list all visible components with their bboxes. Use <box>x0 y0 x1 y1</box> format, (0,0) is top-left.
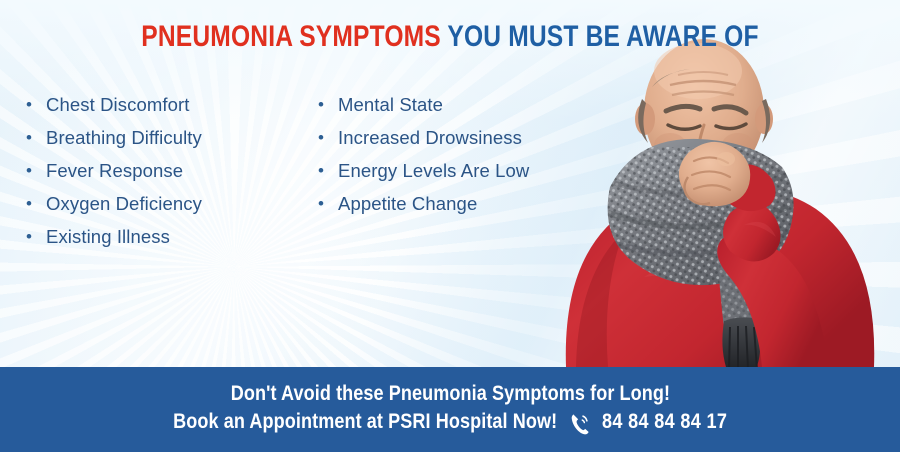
title-rest-blue: YOU MUST BE AWARE OF <box>447 20 758 53</box>
symptoms-lists: • Chest Discomfort • Breathing Difficult… <box>26 92 610 257</box>
list-item: • Mental State <box>318 92 610 125</box>
cta-line-2-text: Book an Appointment at PSRI Hospital Now… <box>173 411 557 433</box>
cta-line-2-row: Book an Appointment at PSRI Hospital Now… <box>173 410 727 436</box>
list-item: • Energy Levels Are Low <box>318 158 610 191</box>
symptom-label: Fever Response <box>46 158 183 183</box>
symptoms-right-column: • Mental State • Increased Drowsiness • … <box>318 92 610 257</box>
list-item: • Chest Discomfort <box>26 92 318 125</box>
phone-call-icon[interactable] <box>568 411 590 437</box>
list-item: • Breathing Difficulty <box>26 125 318 158</box>
page-title: PNEUMONIA SYMPTOMS YOU MUST BE AWARE OF <box>81 22 819 52</box>
symptom-label: Existing Illness <box>46 224 170 249</box>
list-item: • Fever Response <box>26 158 318 191</box>
bullet-icon: • <box>26 92 46 117</box>
bullet-icon: • <box>318 92 338 117</box>
symptom-label: Oxygen Deficiency <box>46 191 202 216</box>
bullet-icon: • <box>26 158 46 183</box>
symptoms-left-column: • Chest Discomfort • Breathing Difficult… <box>26 92 318 257</box>
bullet-icon: • <box>26 125 46 150</box>
cta-banner: Don't Avoid these Pneumonia Symptoms for… <box>0 367 900 452</box>
list-item: • Oxygen Deficiency <box>26 191 318 224</box>
title-highlight-red: PNEUMONIA SYMPTOMS <box>141 20 441 53</box>
pneumonia-symptoms-poster: PNEUMONIA SYMPTOMS YOU MUST BE AWARE OF … <box>0 0 900 452</box>
symptom-label: Chest Discomfort <box>46 92 189 117</box>
bullet-icon: • <box>318 191 338 216</box>
symptom-label: Appetite Change <box>338 191 477 216</box>
symptom-label: Breathing Difficulty <box>46 125 202 150</box>
symptom-label: Mental State <box>338 92 443 117</box>
bullet-icon: • <box>318 125 338 150</box>
phone-number[interactable]: 84 84 84 84 17 <box>602 411 727 433</box>
bullet-icon: • <box>318 158 338 183</box>
bullet-icon: • <box>26 191 46 216</box>
symptom-label: Increased Drowsiness <box>338 125 522 150</box>
bullet-icon: • <box>26 224 46 249</box>
symptom-label: Energy Levels Are Low <box>338 158 529 183</box>
list-item: • Appetite Change <box>318 191 610 224</box>
cta-line-1: Don't Avoid these Pneumonia Symptoms for… <box>230 383 669 405</box>
list-item: • Increased Drowsiness <box>318 125 610 158</box>
list-item: • Existing Illness <box>26 224 318 257</box>
